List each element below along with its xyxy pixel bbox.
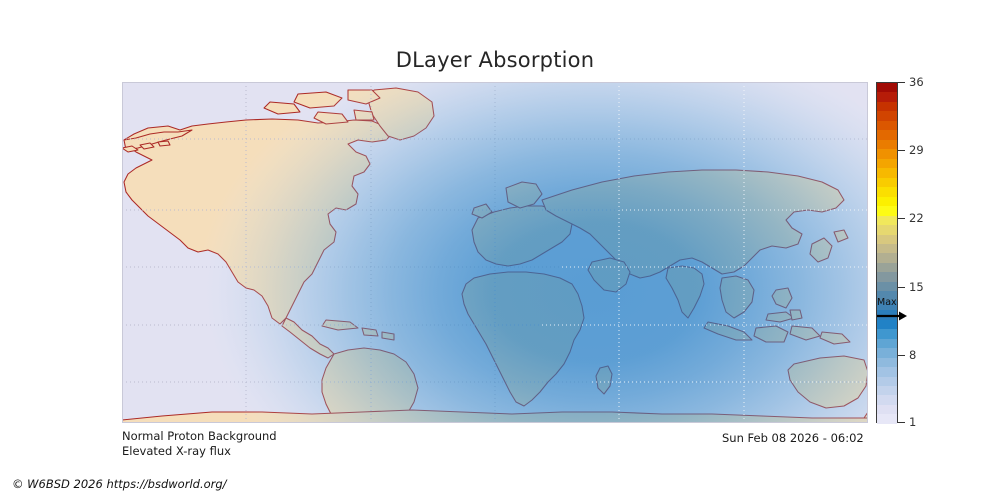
colorbar-band <box>877 225 897 234</box>
colorbar-tick-group: 3629221581 <box>898 82 958 423</box>
colorbar-band <box>877 102 897 111</box>
page-title: DLayer Absorption <box>0 48 990 72</box>
colorbar-tick-mark <box>898 355 905 356</box>
colorbar-band <box>877 197 897 206</box>
colorbar-tick-mark <box>898 218 905 219</box>
map-canvas[interactable] <box>122 82 868 423</box>
colorbar-band <box>877 206 897 215</box>
colorbar-tick-label: 22 <box>909 211 924 225</box>
colorbar-band <box>877 216 897 225</box>
colorbar-band <box>877 83 897 92</box>
colorbar-band <box>877 130 897 139</box>
colorbar-band <box>877 159 897 168</box>
colorbar-band <box>877 320 897 329</box>
xray-status-text: Elevated X-ray flux <box>122 444 277 459</box>
colorbar-band <box>877 111 897 120</box>
colorbar-axis-label: Affected Frequency (MHz) <box>960 82 1000 423</box>
colorbar-band <box>877 414 897 423</box>
colorbar-band <box>877 377 897 386</box>
colorbar-band <box>877 263 897 272</box>
status-footer: Normal Proton Background Elevated X-ray … <box>122 429 277 459</box>
colorbar-band <box>877 235 897 244</box>
colorbar-band <box>877 301 897 310</box>
colorbar-band <box>877 168 897 177</box>
colorbar-band <box>877 339 897 348</box>
absorption-overlay <box>128 82 868 423</box>
colorbar-tick-mark <box>898 150 905 151</box>
colorbar-tick-mark <box>898 422 905 423</box>
copyright-label: © W6BSD 2026 https://bsdworld.org/ <box>12 477 227 491</box>
colorbar-band <box>877 253 897 262</box>
colorbar-band <box>877 358 897 367</box>
colorbar-band <box>877 291 897 300</box>
colorbar-band <box>877 187 897 196</box>
colorbar-band <box>877 367 897 376</box>
proton-status-text: Normal Proton Background <box>122 429 277 444</box>
colorbar-band <box>877 386 897 395</box>
colorbar-band <box>877 395 897 404</box>
colorbar-tick-label: 29 <box>909 143 924 157</box>
world-map-svg <box>122 82 868 423</box>
colorbar-band <box>877 92 897 101</box>
timestamp-label: Sun Feb 08 2026 - 06:02 <box>722 431 864 445</box>
colorbar-band <box>877 149 897 158</box>
colorbar-band <box>877 244 897 253</box>
colorbar-band <box>877 310 897 319</box>
colorbar-band <box>877 272 897 281</box>
colorbar-tick-label: 15 <box>909 280 924 294</box>
colorbar-band <box>877 178 897 187</box>
colorbar-band <box>877 140 897 149</box>
colorbar-tick-label: 1 <box>909 415 916 429</box>
colorbar-tick-mark <box>898 287 905 288</box>
colorbar-band <box>877 282 897 291</box>
colorbar-band <box>877 121 897 130</box>
colorbar-tick-label: 8 <box>909 348 916 362</box>
colorbar-tick-mark <box>898 82 905 83</box>
colorbar-gradient <box>876 82 898 423</box>
colorbar-band <box>877 348 897 357</box>
colorbar-band <box>877 329 897 338</box>
plot-root: DLayer Absorption <box>0 0 1000 500</box>
colorbar[interactable] <box>876 82 898 423</box>
colorbar-band <box>877 405 897 414</box>
colorbar-tick-label: 36 <box>909 75 924 89</box>
